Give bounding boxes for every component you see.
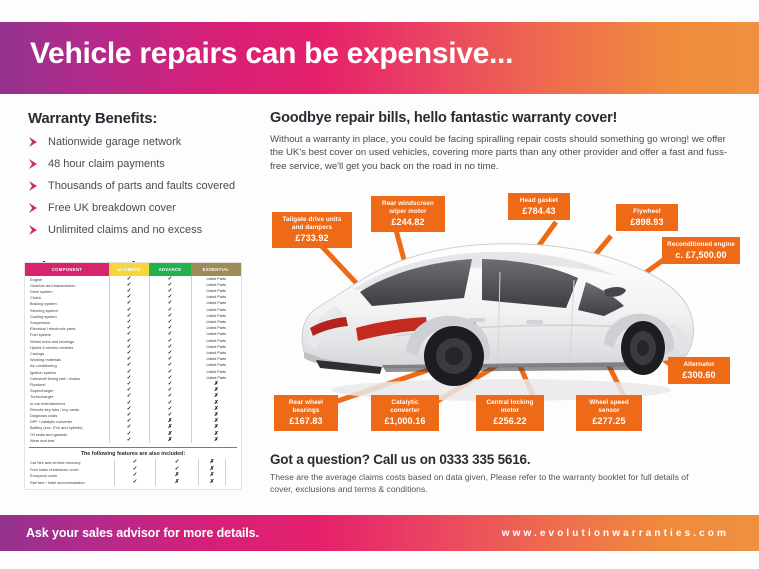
footer-banner: Ask your sales advisor for more details.… <box>0 515 759 551</box>
cell-advance: ✗ <box>149 437 191 443</box>
benefit-item: Free UK breakdown cover <box>28 202 263 215</box>
coverage-table: Component ULTIMATE ADVANCE ESSENTIAL Eng… <box>25 263 241 443</box>
callout-label: Wheel speed sensor <box>581 399 637 415</box>
cell-ultimate: ✓ <box>115 479 156 486</box>
callout-price: £1,000.16 <box>376 417 434 425</box>
callout-tailgate-drive-units[interactable]: Tailgate drive units and dampers £733.92 <box>272 212 352 248</box>
callout-price: £244.82 <box>376 218 440 226</box>
callout-label: Alternator <box>673 361 725 369</box>
also-included-table: Car hire and vehicle recovery✓✓✗Free bas… <box>25 459 241 485</box>
callout-label: Rear wheel bearings <box>279 399 333 415</box>
cell-component: Wear and tear <box>25 437 109 443</box>
coverage-table-header-row: Component ULTIMATE ADVANCE ESSENTIAL <box>25 263 241 276</box>
list-item: Rail fare / hotel accommodation✓✗✗ <box>25 479 241 486</box>
benefit-label: Unlimited claims and no excess <box>48 224 202 236</box>
callout-price: £898.93 <box>621 218 673 226</box>
cell-component: European cover <box>25 473 115 480</box>
callout-label: Reconditioned engine <box>667 241 735 249</box>
contact-headline: Got a question? Call us on 0333 335 5616… <box>270 452 690 467</box>
callout-price: £256.22 <box>481 417 539 425</box>
callout-alternator[interactable]: Alternator £300.60 <box>668 357 730 384</box>
benefit-item: 48 hour claim payments <box>28 158 263 171</box>
callout-label: Tailgate drive units and dampers <box>277 216 347 232</box>
chevron-right-icon <box>28 180 41 192</box>
car-illustration <box>286 232 706 407</box>
callout-catalytic-converter[interactable]: Catalytic converter £1,000.16 <box>371 395 439 431</box>
callout-rear-wheel-bearings[interactable]: Rear wheel bearings £167.83 <box>274 395 338 431</box>
table-row: Wear and tear✓✗✗ <box>25 437 241 443</box>
cell-spacer <box>226 459 242 466</box>
callout-label: Rear windscreen wiper motor <box>376 200 440 216</box>
benefit-label: Thousands of parts and faults covered <box>48 180 235 192</box>
cell-spacer <box>226 479 242 486</box>
callout-price: £733.92 <box>277 234 347 242</box>
warranty-benefits-list: Nationwide garage network48 hour claim p… <box>28 136 263 237</box>
right-column: Goodbye repair bills, hello fantastic wa… <box>270 110 740 173</box>
footer-cta-text: Ask your sales advisor for more details. <box>26 526 259 540</box>
column-header-advance: ADVANCE <box>149 263 191 276</box>
contact-block: Got a question? Call us on 0333 335 5616… <box>270 452 690 495</box>
benefit-item: Nationwide garage network <box>28 136 263 149</box>
callout-price: £300.60 <box>673 371 725 379</box>
callout-price: £167.83 <box>279 417 333 425</box>
left-column: Warranty Benefits: Nationwide garage net… <box>28 110 263 285</box>
callout-label: Central locking motor <box>481 399 539 415</box>
callout-price: £277.25 <box>581 417 637 425</box>
chevron-right-icon <box>28 136 41 148</box>
chevron-right-icon <box>28 158 41 170</box>
cell-component: Rail fare / hotel accommodation <box>25 479 115 486</box>
warranty-benefits-title: Warranty Benefits: <box>28 110 263 127</box>
callout-head-gasket[interactable]: Head gasket £784.43 <box>508 193 570 220</box>
benefit-label: Free UK breakdown cover <box>48 202 176 214</box>
column-header-ultimate: ULTIMATE <box>109 263 149 276</box>
callout-label: Flywheel <box>621 208 673 216</box>
callout-price: c. £7,500.00 <box>667 251 735 259</box>
cell-component: Car hire and vehicle recovery <box>25 459 115 466</box>
footer-website[interactable]: www.evolutionwarranties.com <box>502 528 729 539</box>
cell-component: Free basic breakdown cover <box>25 466 115 473</box>
coverage-table-body: Engine✓✓Listed PartsGearbox and transmis… <box>25 276 241 443</box>
also-included-title: The following features are also included… <box>29 447 237 457</box>
right-body-text: Without a warranty in place, you could b… <box>270 133 740 173</box>
also-included-table-body: Car hire and vehicle recovery✓✓✗Free bas… <box>25 459 241 485</box>
callout-central-locking-motor[interactable]: Central locking motor £256.22 <box>476 395 544 431</box>
header-banner: Vehicle repairs can be expensive... <box>0 22 759 94</box>
poster-page: Vehicle repairs can be expensive... Warr… <box>0 0 759 569</box>
cell-advance: ✗ <box>156 479 199 486</box>
benefit-label: Nationwide garage network <box>48 136 181 148</box>
benefit-label: 48 hour claim payments <box>48 158 165 170</box>
chevron-right-icon <box>28 202 41 214</box>
cell-essential: ✗ <box>191 437 241 443</box>
cell-essential: ✗ <box>199 479 226 486</box>
callout-wheel-speed-sensor[interactable]: Wheel speed sensor £277.25 <box>576 395 642 431</box>
page-title: Vehicle repairs can be expensive... <box>30 37 513 71</box>
chevron-right-icon <box>28 224 41 236</box>
benefit-item: Unlimited claims and no excess <box>28 224 263 237</box>
callout-rear-windscreen-wiper-motor[interactable]: Rear windscreen wiper motor £244.82 <box>371 196 445 232</box>
coverage-table-panel: Component ULTIMATE ADVANCE ESSENTIAL Eng… <box>24 262 242 490</box>
cell-ultimate: ✓ <box>109 437 149 443</box>
cell-spacer <box>226 473 242 480</box>
callout-price: £784.43 <box>513 207 565 215</box>
car-diagram-stage: Tailgate drive units and dampers £733.92… <box>266 190 759 445</box>
contact-disclaimer: These are the average claims costs based… <box>270 472 690 495</box>
callout-label: Head gasket <box>513 197 565 205</box>
column-header-essential: ESSENTIAL <box>191 263 241 276</box>
right-headline: Goodbye repair bills, hello fantastic wa… <box>270 110 740 126</box>
callout-flywheel[interactable]: Flywheel £898.93 <box>616 204 678 231</box>
column-header-component: Component <box>25 263 109 276</box>
cell-spacer <box>226 466 242 473</box>
callout-label: Catalytic converter <box>376 399 434 415</box>
benefit-item: Thousands of parts and faults covered <box>28 180 263 193</box>
callout-reconditioned-engine[interactable]: Reconditioned engine c. £7,500.00 <box>662 237 740 264</box>
